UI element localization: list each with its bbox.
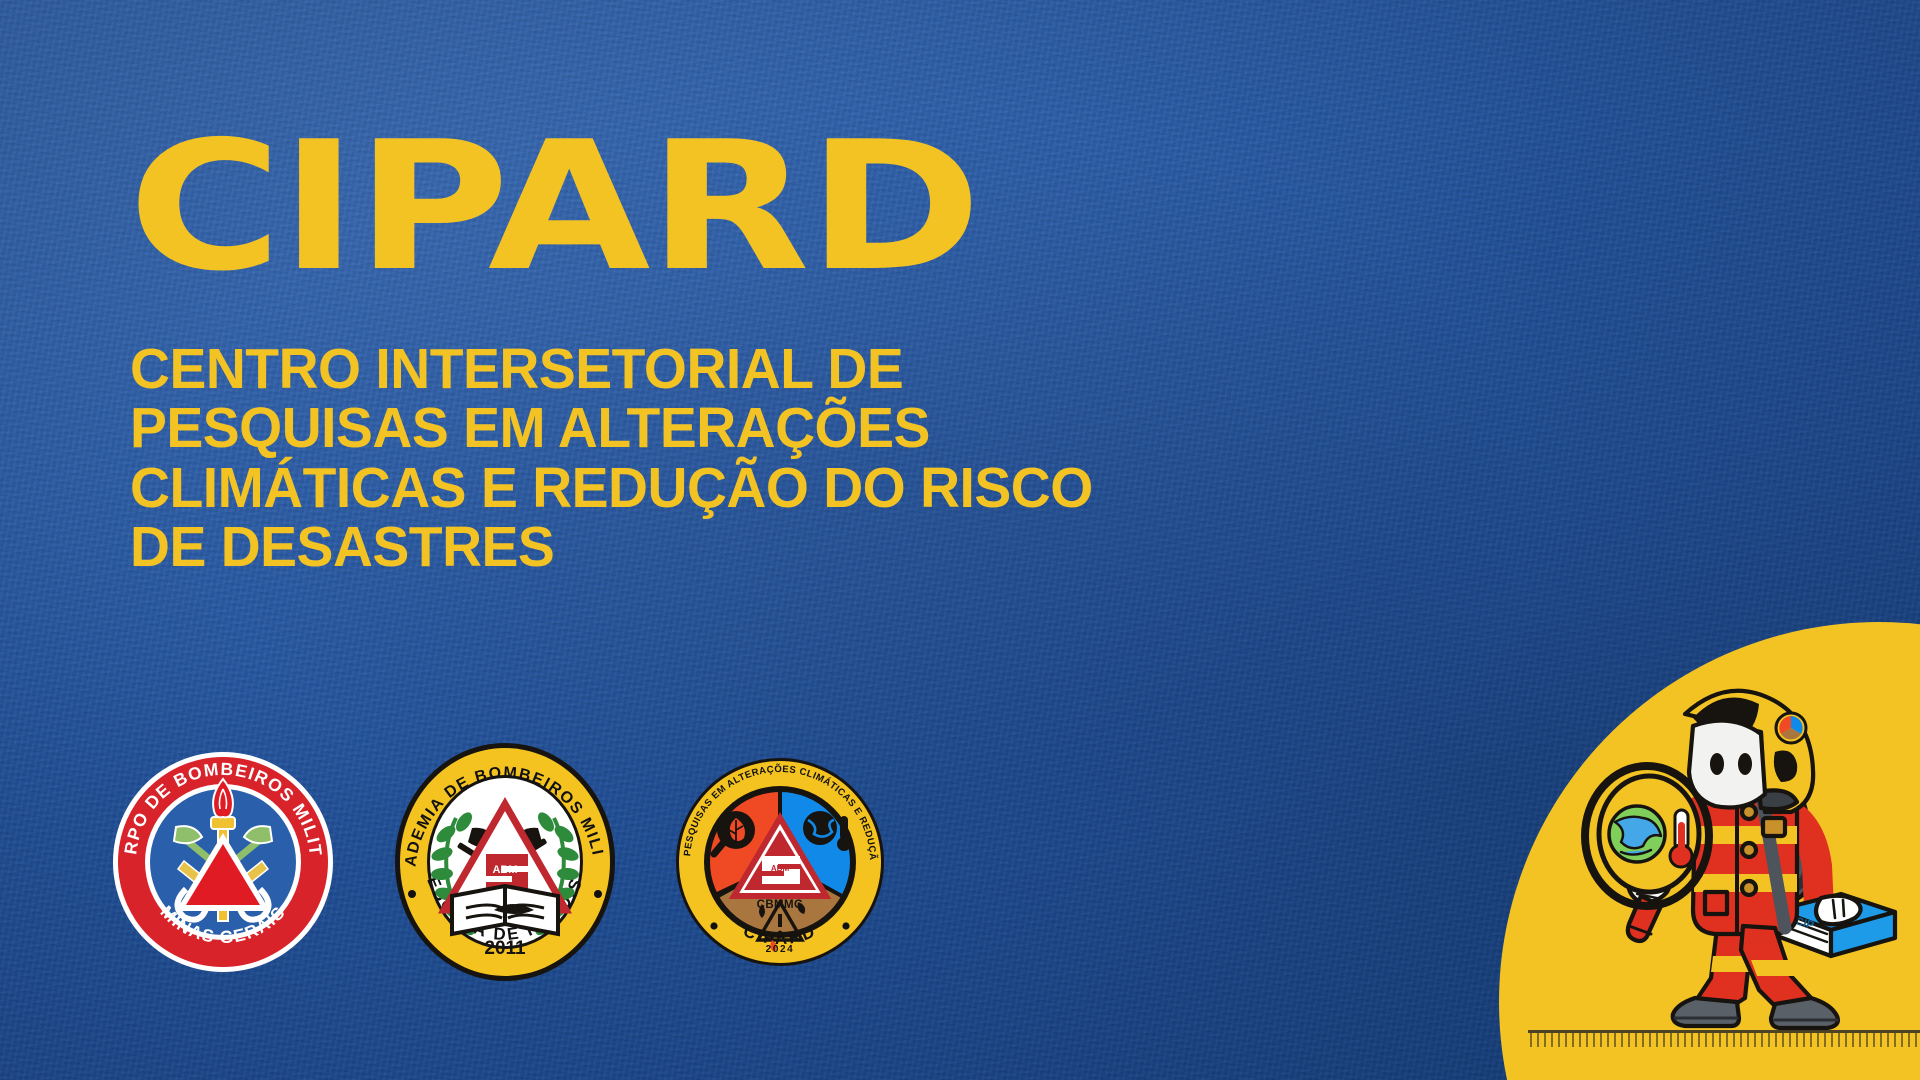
badge-cbmmg: CORPO DE BOMBEIROS MILITAR MINAS GERAIS bbox=[110, 749, 336, 975]
subtitle-line-4: DE DESASTRES bbox=[130, 518, 1216, 577]
badge-abm-dot-left bbox=[408, 890, 416, 898]
badge-cipard: CENTRO INTERSETORIAL DE PESQUISAS EM ALT… bbox=[674, 756, 886, 968]
logo-row: CORPO DE BOMBEIROS MILITAR MINAS GERAIS bbox=[110, 742, 886, 982]
badge-cipard-dot-left bbox=[710, 922, 717, 929]
badge-cipard-monogram: ABM bbox=[771, 864, 790, 873]
page-subtitle: CENTRO INTERSETORIAL DE PESQUISAS EM ALT… bbox=[130, 340, 1216, 577]
badge-abm-year: 2011 bbox=[484, 938, 526, 959]
page-title: CIPARD bbox=[128, 118, 979, 296]
subtitle-line-1: CENTRO INTERSETORIAL DE bbox=[130, 340, 1216, 399]
mascot-ground-shadow bbox=[1530, 1033, 1920, 1047]
badge-abm: ACADEMIA DE BOMBEIROS MILITAR ESCOLA DE … bbox=[394, 742, 616, 982]
badge-cipard-center-label: CBMMG bbox=[757, 899, 804, 911]
mascot-ground-line bbox=[1528, 1030, 1920, 1033]
badge-cipard-dot-right bbox=[842, 922, 849, 929]
badge-cipard-year: 2024 bbox=[766, 944, 795, 955]
helmet-badge-icon bbox=[1776, 713, 1806, 743]
poster-canvas: CIP bbox=[0, 0, 1920, 1080]
subtitle-line-2: PESQUISAS EM ALTERAÇÕES bbox=[130, 399, 1216, 458]
badge-abm-dot-right bbox=[594, 890, 602, 898]
firefighter-researcher-mascot: CIP bbox=[1545, 660, 1920, 1040]
subtitle-line-3: CLIMÁTICAS E REDUÇÃO DO RISCO bbox=[130, 459, 1216, 518]
badge-abm-monogram: ABM bbox=[492, 864, 517, 876]
